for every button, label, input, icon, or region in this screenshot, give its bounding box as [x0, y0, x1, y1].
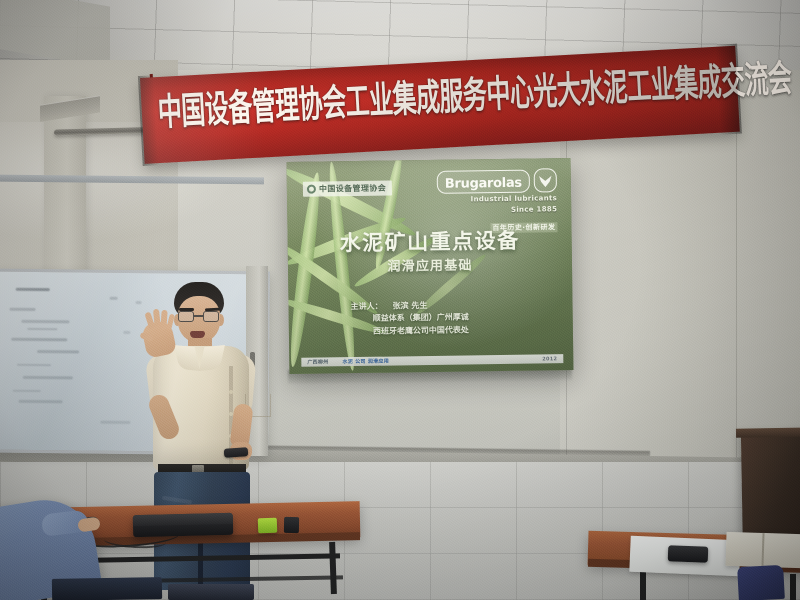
presenter-remote [224, 447, 249, 458]
speaker-mouth [190, 331, 205, 338]
projector-haze [287, 158, 574, 374]
smartphone [668, 545, 709, 562]
right-table-leg-right [790, 574, 796, 600]
black-box [284, 517, 299, 533]
notebook-spine [761, 533, 764, 567]
glasses-icon [177, 311, 221, 322]
presentation-slide: 中国设备管理协会 Brugarolas Industrial lubricant… [287, 158, 574, 374]
cabinet-top [736, 427, 800, 437]
photo-scene: 中国设备管理协会 Brugarolas Industrial lubricant… [0, 0, 800, 600]
green-box [258, 518, 278, 534]
under-table-equipment-1 [52, 577, 162, 600]
projection-screen: 中国设备管理协会 Brugarolas Industrial lubricant… [287, 158, 574, 374]
open-notebook [725, 532, 800, 568]
blue-bag [737, 565, 785, 600]
laptop-lid [133, 513, 233, 526]
under-table-equipment-2 [168, 584, 254, 600]
right-table-leg-left [640, 568, 646, 600]
laptop [133, 513, 233, 537]
